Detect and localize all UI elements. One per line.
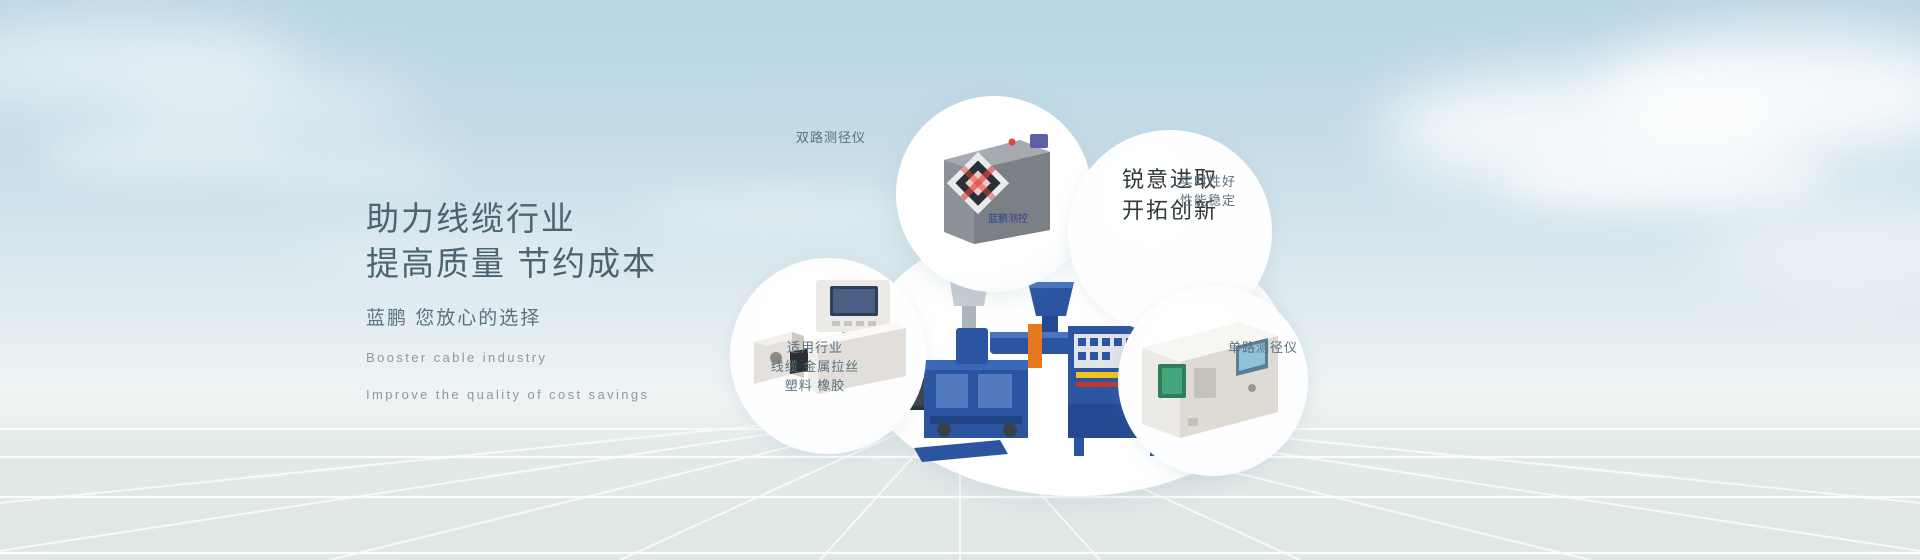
machine-brand-text: 蓝鹏测控 <box>988 212 1028 225</box>
label-dual-gauge: 双路测径仪 <box>796 128 866 147</box>
label-apply-industries: 适用行业 线缆 金属拉丝 塑料 橡胶 <box>720 338 910 395</box>
hero-banner: 助力线缆行业 提高质量 节约成本 蓝鹏 您放心的选择 Booster cable… <box>0 0 1920 560</box>
slogan-block: 锐意进取 开拓创新 <box>1068 164 1272 226</box>
label-single-gauge: 单路测径仪 <box>1228 338 1298 357</box>
slogan-line-2: 开拓创新 <box>1068 195 1272 226</box>
label-apply-line-2: 塑料 橡胶 <box>720 376 910 395</box>
cloud-decoration <box>250 150 460 190</box>
single-gauge-illustration <box>1136 306 1294 446</box>
label-performance-line-2: 性能稳定 <box>1180 191 1236 210</box>
dual-gauge-illustration: 蓝鹏测控 <box>934 126 1058 248</box>
label-apply-title: 适用行业 <box>720 338 910 357</box>
product-composition: 蓝鹏测控 锐意进取 开拓创新 <box>700 0 1920 560</box>
label-apply-line-1: 线缆 金属拉丝 <box>720 357 910 376</box>
label-performance-line-1: 实时性好 <box>1180 172 1236 191</box>
slogan-line-1: 锐意进取 <box>1068 164 1272 195</box>
label-performance: 实时性好 性能稳定 <box>1180 172 1236 210</box>
